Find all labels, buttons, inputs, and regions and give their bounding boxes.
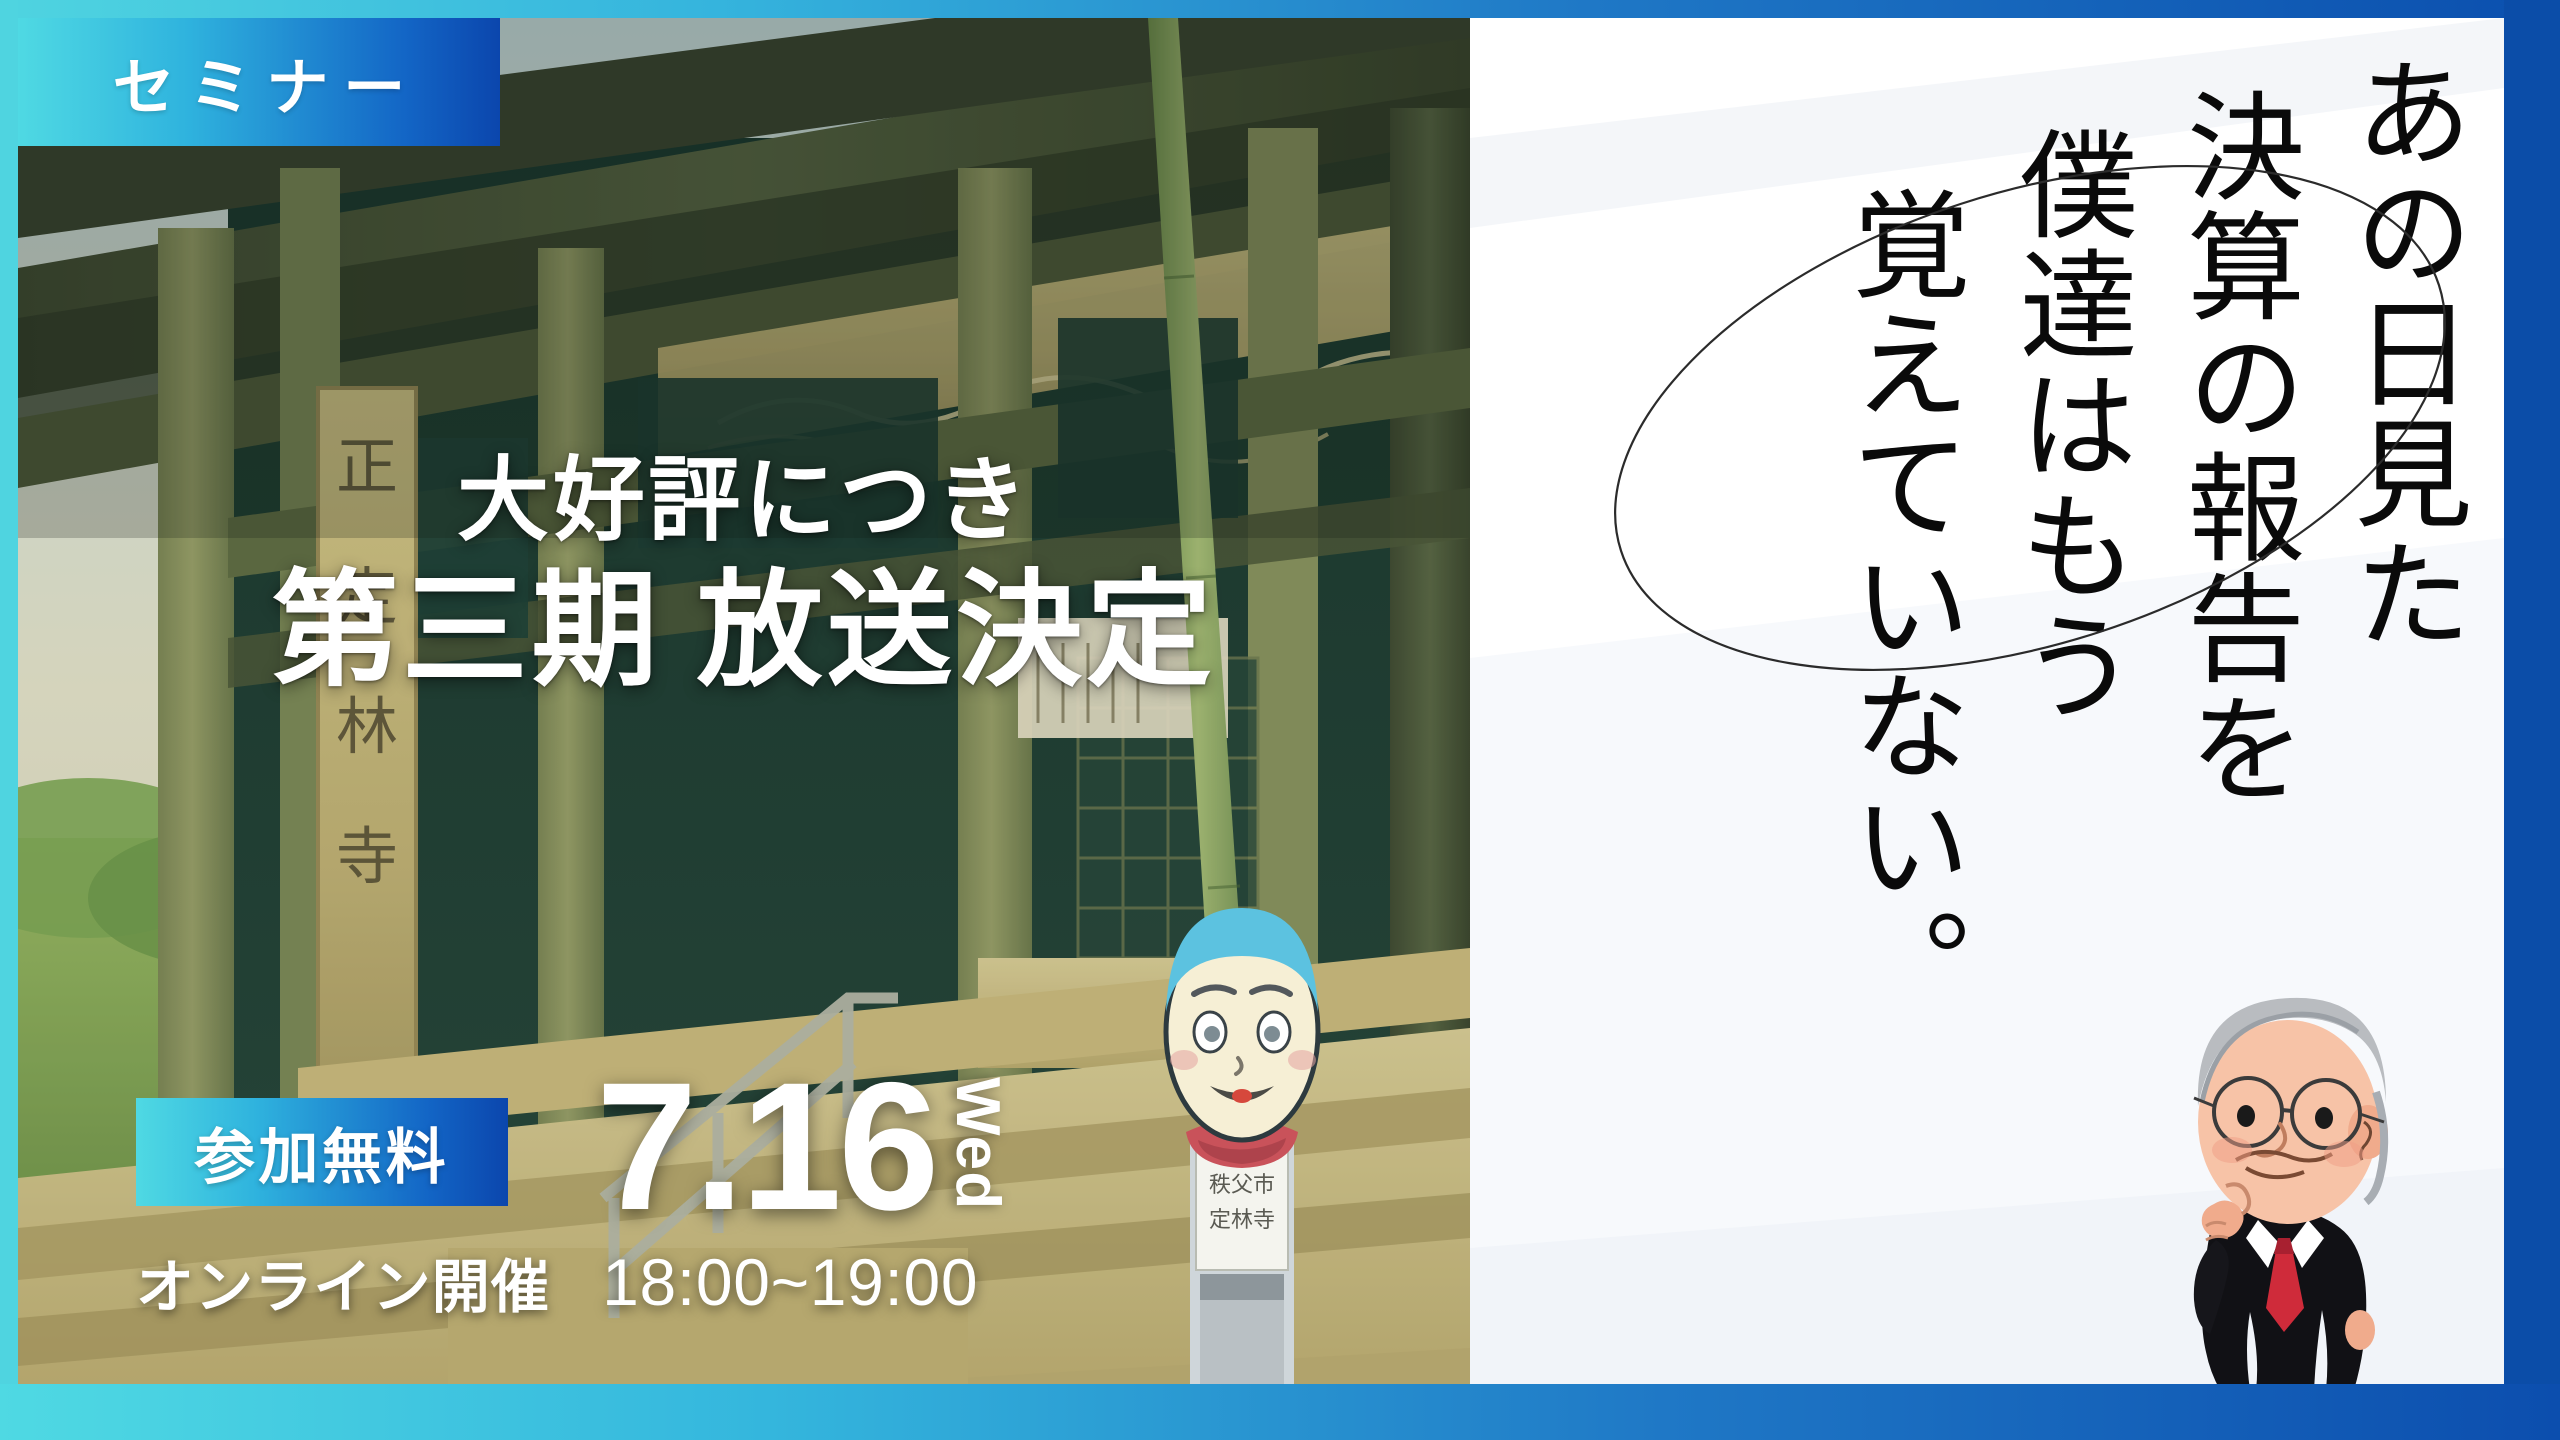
headline-line-1: 大好評につき xyxy=(18,448,1470,555)
border-right xyxy=(2504,0,2560,1440)
event-info-left: 参加無料 オンライン開催 xyxy=(136,1098,550,1324)
border-left xyxy=(0,0,18,1440)
quote-column-1: あの日見た xyxy=(2325,52,2478,1027)
online-format-label: オンライン開催 xyxy=(136,1240,550,1324)
event-date-row: 7.16 Wed xyxy=(596,1063,1013,1230)
free-participation-badge: 参加無料 xyxy=(136,1098,508,1206)
svg-text:秩父市: 秩父市 xyxy=(1209,1172,1275,1197)
svg-text:定林寺: 定林寺 xyxy=(1209,1207,1275,1232)
event-time: 18:00~19:00 xyxy=(602,1244,978,1320)
event-date: 7.16 xyxy=(596,1063,936,1230)
event-day-of-week: Wed xyxy=(942,1077,1013,1210)
free-participation-label: 参加無料 xyxy=(195,1109,449,1196)
vertical-quote-text: 覚えていない。 僕達はもう 決算の報告を あの日見た xyxy=(1808,18,2504,1027)
headline: 大好評につき 第三期 放送決定 xyxy=(18,448,1470,707)
quote-panel: 覚えていない。 僕達はもう 決算の報告を あの日見た xyxy=(1470,18,2504,1422)
seminar-tag: セミナー xyxy=(18,18,500,146)
quote-column-2: 決算の報告を xyxy=(2157,86,2310,1027)
quote-column-4: 覚えていない。 xyxy=(1822,184,1975,1027)
seminar-tag-label: セミナー xyxy=(98,37,420,127)
quote-column-3: 僕達はもう xyxy=(1990,124,2143,1027)
event-info-right: 7.16 Wed 18:00~19:00 xyxy=(596,1063,1013,1324)
seminar-banner: 正 定 林 寺 嵯峨井 明治三年 xyxy=(0,0,2560,1440)
event-info-block: 参加無料 オンライン開催 7.16 Wed 18:00~19:00 xyxy=(136,1063,1013,1324)
old-man-thinking-illustration xyxy=(2140,982,2450,1422)
border-bottom xyxy=(0,1384,2560,1440)
headline-line-2: 第三期 放送決定 xyxy=(18,559,1470,708)
kokeshi-doll-illustration: 秩父市 定林寺 xyxy=(1152,882,1332,1422)
border-top xyxy=(0,0,2560,18)
temple-photo-panel: 正 定 林 寺 嵯峨井 明治三年 xyxy=(18,18,1470,1422)
